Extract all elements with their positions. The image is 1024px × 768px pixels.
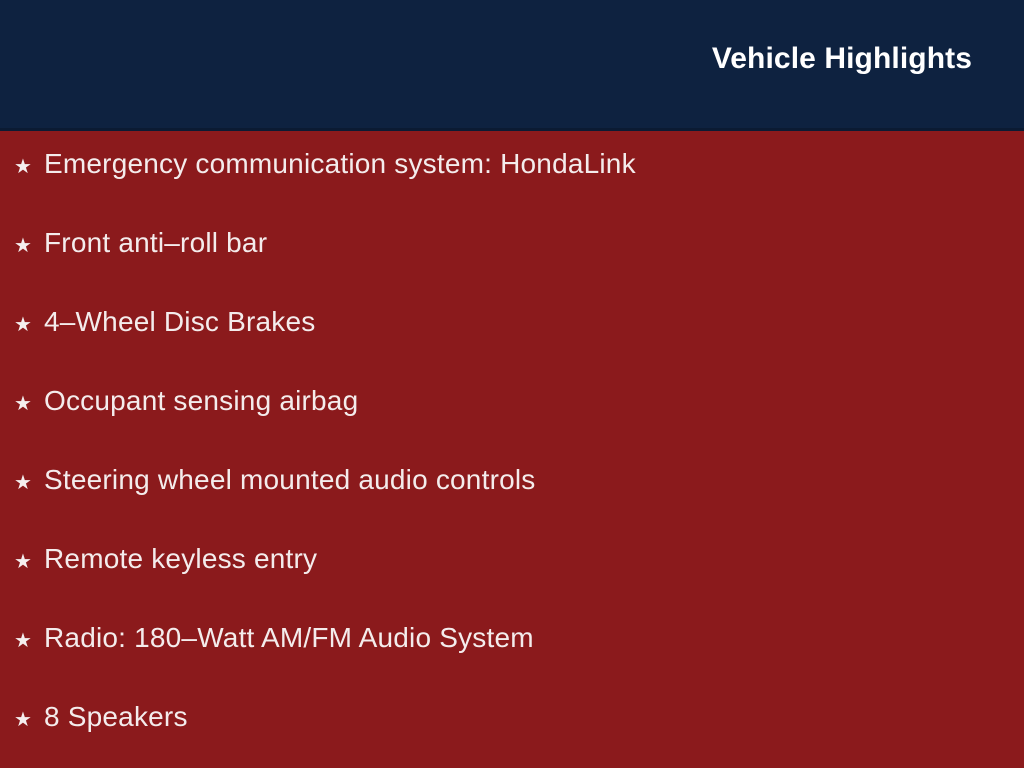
list-item: ★ Front anti–roll bar [0,228,1024,307]
list-item-label: Radio: 180–Watt AM/FM Audio System [44,623,534,654]
star-bullet-icon: ★ [14,631,44,651]
list-item-label: Emergency communication system: HondaLin… [44,149,636,180]
vehicle-highlights-list: ★ Emergency communication system: HondaL… [0,131,1024,768]
star-bullet-icon: ★ [14,157,44,177]
list-item: ★ Emergency communication system: HondaL… [0,149,1024,228]
star-bullet-icon: ★ [14,473,44,493]
list-item: ★ 8 Speakers [0,702,1024,768]
slide-header: Vehicle Highlights [0,0,1024,131]
list-item-label: Steering wheel mounted audio controls [44,465,535,496]
star-bullet-icon: ★ [14,394,44,414]
star-bullet-icon: ★ [14,315,44,335]
list-item-label: Remote keyless entry [44,544,317,575]
list-item: ★ Steering wheel mounted audio controls [0,465,1024,544]
list-item-label: 8 Speakers [44,702,188,733]
list-item: ★ 4–Wheel Disc Brakes [0,307,1024,386]
list-item-label: Front anti–roll bar [44,228,267,259]
page-title: Vehicle Highlights [712,44,972,74]
star-bullet-icon: ★ [14,552,44,572]
list-item: ★ Remote keyless entry [0,544,1024,623]
list-item: ★ Radio: 180–Watt AM/FM Audio System [0,623,1024,702]
star-bullet-icon: ★ [14,236,44,256]
vehicle-highlights-slide: Vehicle Highlights ★ Emergency communica… [0,0,1024,768]
star-bullet-icon: ★ [14,710,44,730]
list-item-label: Occupant sensing airbag [44,386,358,417]
list-item: ★ Occupant sensing airbag [0,386,1024,465]
list-item-label: 4–Wheel Disc Brakes [44,307,315,338]
